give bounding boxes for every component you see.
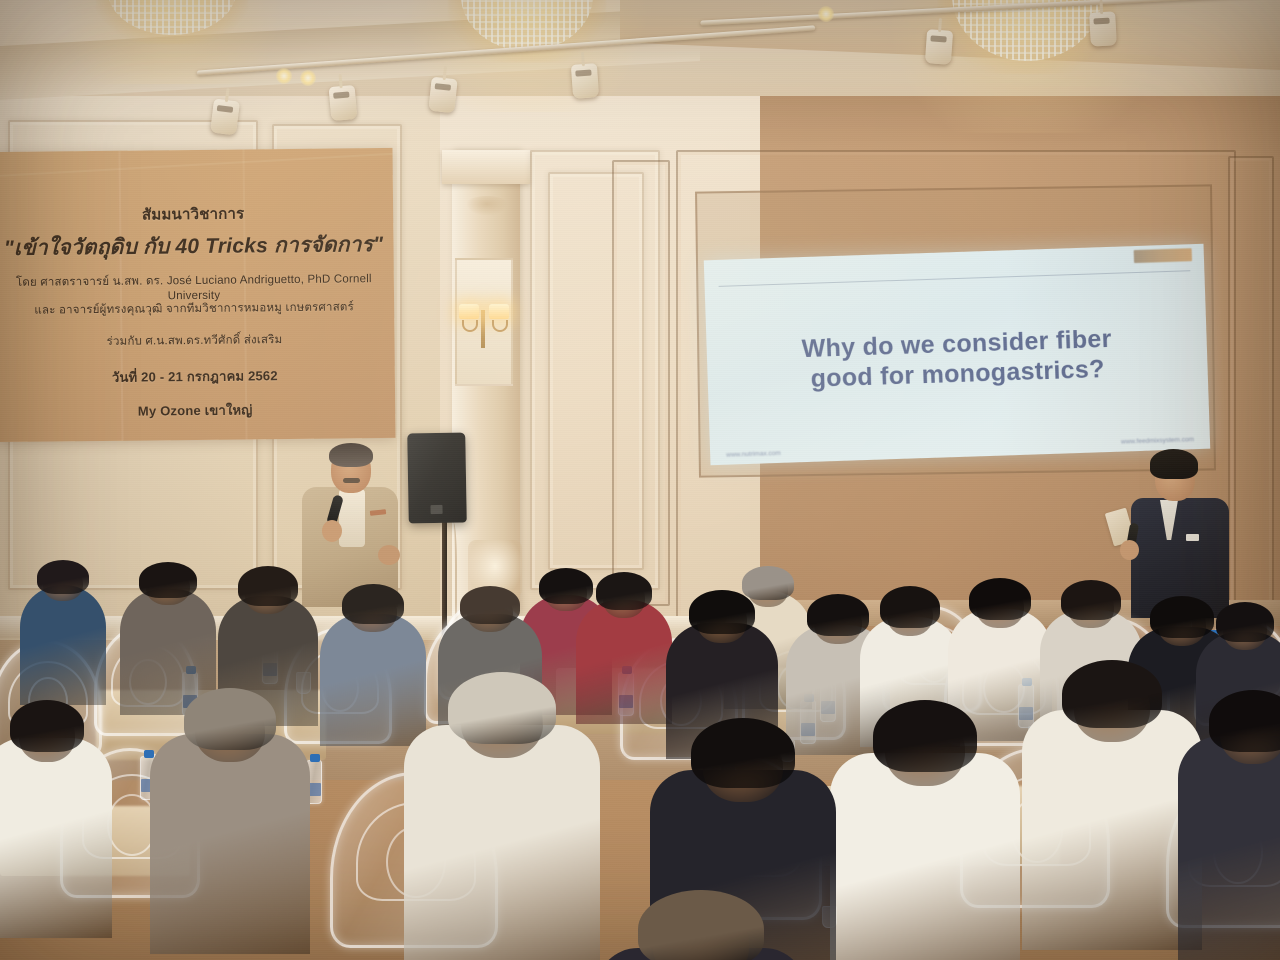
audience-member-hair <box>880 586 940 628</box>
audience-member-hair <box>742 566 794 600</box>
bottle-cap <box>310 754 320 762</box>
presenter-shirt <box>339 489 365 547</box>
presenter-moustache <box>343 478 360 483</box>
presenter-hair <box>329 443 373 467</box>
moderator-pocket-square <box>1186 534 1199 541</box>
seminar-poster: สัมมนาวิชาการ "เข้าใจวัตถุดิบ กับ 40 Tri… <box>0 148 396 442</box>
audience-member-shoulders <box>0 738 112 938</box>
audience-member-hair <box>638 890 764 960</box>
spotlight <box>210 99 240 136</box>
photo-scene: สัมมนาวิชาการ "เข้าใจวัตถุดิบ กับ 40 Tri… <box>0 0 1280 960</box>
track-bulb <box>276 68 292 84</box>
presenter-hand <box>322 520 342 542</box>
audience-member-shoulders <box>404 725 600 960</box>
audience-member-hair <box>539 568 593 604</box>
spotlight <box>1089 11 1117 46</box>
audience-member-hair <box>691 718 795 788</box>
audience-member-hair <box>10 700 84 752</box>
audience-member-shoulders <box>320 614 426 746</box>
audience-member-hair <box>238 566 298 606</box>
sconce-stem <box>481 310 485 348</box>
audience-member-hair <box>139 562 197 598</box>
poster-date-line: วันที่ 20 - 21 กรกฎาคม 2562 <box>0 364 395 389</box>
audience-member-hair <box>37 560 89 594</box>
pa-loudspeaker <box>407 433 467 524</box>
sconce-shade <box>489 304 509 319</box>
audience-member-shoulders <box>1178 736 1280 960</box>
poster-title: "เข้าใจวัตถุดิบ กับ 40 Tricks การจัดการ" <box>0 228 394 265</box>
poster-team-line: และ อาจารย์ผู้ทรงคุณวุฒิ จากทีมวิชาการหม… <box>0 298 394 320</box>
poster-heading: สัมมนาวิชาการ <box>0 200 393 228</box>
spotlight <box>571 63 599 99</box>
audience-member-hair <box>342 584 404 624</box>
slide-footer-left: www.nutrimax.com <box>726 450 781 459</box>
audience-member-hair <box>807 594 869 636</box>
wall-panel-right-edge <box>1228 156 1274 606</box>
audience-member-hair <box>596 572 652 610</box>
audience-member-shoulders <box>20 585 106 705</box>
poster-venue-line: My Ozone เขาใหญ่ <box>0 398 395 423</box>
audience-member-hair <box>1061 580 1121 620</box>
sconce-shade <box>459 304 479 319</box>
audience-member-hair <box>1150 596 1214 638</box>
audience-member-hair <box>969 578 1031 620</box>
moderator-hair <box>1150 449 1198 479</box>
slide-footer-right: www.feedmixsystem.com <box>1121 436 1194 445</box>
poster-with-line: ร่วมกับ ศ.น.สพ.ดร.ทวีศักดิ์ ส่งเสริม <box>0 330 395 352</box>
moderator-hand <box>1120 540 1139 560</box>
audience-member-shoulders <box>576 600 672 724</box>
bottle-cap <box>144 750 154 758</box>
slide-title: Why do we consider fiber good for monoga… <box>706 322 1208 398</box>
audience-member-hair <box>184 688 276 750</box>
audience-member-hair <box>448 672 556 744</box>
track-bulb <box>818 6 834 22</box>
audience-member-hair <box>460 586 520 624</box>
brand-logo-icon <box>1134 248 1192 263</box>
audience-member-hair <box>1216 602 1274 642</box>
slide-divider-rule <box>719 270 1191 287</box>
audience-member-hair <box>689 590 755 634</box>
audience-member-hair <box>873 700 977 772</box>
spotlight <box>428 77 457 114</box>
pilaster-capital <box>442 150 530 184</box>
spotlight <box>329 85 358 121</box>
audience-member-hair <box>1062 660 1162 728</box>
spotlight <box>925 29 953 65</box>
track-bulb <box>300 70 316 86</box>
audience-member-hair <box>1209 690 1280 752</box>
audience-member-shoulders <box>1022 710 1202 950</box>
presenter-hand <box>378 545 400 565</box>
speaker-stand-pole <box>442 520 447 635</box>
wall-panel-right-left <box>612 160 670 606</box>
audience-member-shoulders <box>150 734 310 954</box>
presentation-slide: Why do we consider fiber good for monoga… <box>704 244 1211 465</box>
chandelier <box>96 0 248 44</box>
pilaster-ornament <box>466 196 508 216</box>
